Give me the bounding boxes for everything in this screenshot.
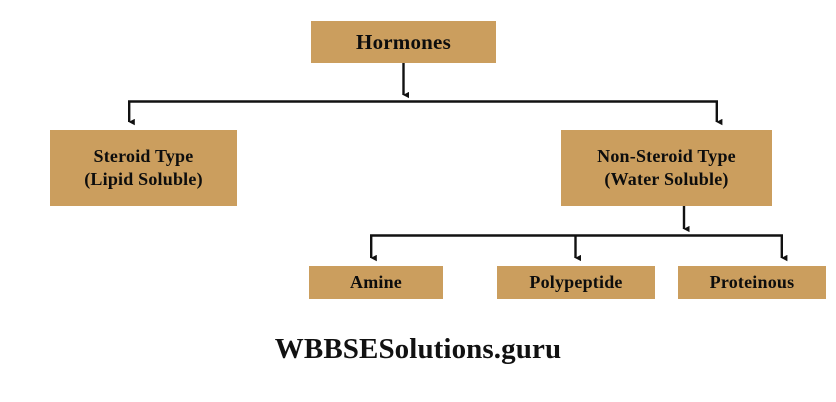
node-steroid-type-label-line1: Steroid Type [94,145,194,168]
node-amine-label: Amine [350,271,402,294]
node-steroid-type: Steroid Type (Lipid Soluble) [50,130,237,206]
node-proteinous-label: Proteinous [710,271,795,294]
node-proteinous: Proteinous [678,266,826,299]
node-non-steroid-type: Non-Steroid Type (Water Soluble) [561,130,772,206]
node-non-steroid-type-label-line2: (Water Soluble) [604,168,728,191]
node-non-steroid-type-label-line1: Non-Steroid Type [597,145,736,168]
node-polypeptide: Polypeptide [497,266,655,299]
node-polypeptide-label: Polypeptide [529,271,622,294]
node-amine: Amine [309,266,443,299]
connector-bus-level2 [370,235,783,259]
connector-bus-level1 [128,101,718,123]
watermark-text: WBBSESolutions.guru [0,333,836,366]
node-hormones-label: Hormones [356,29,451,56]
node-hormones: Hormones [311,21,496,63]
node-steroid-type-label-line2: (Lipid Soluble) [84,168,203,191]
diagram-canvas: Hormones Steroid Type (Lipid Soluble) No… [0,0,836,402]
